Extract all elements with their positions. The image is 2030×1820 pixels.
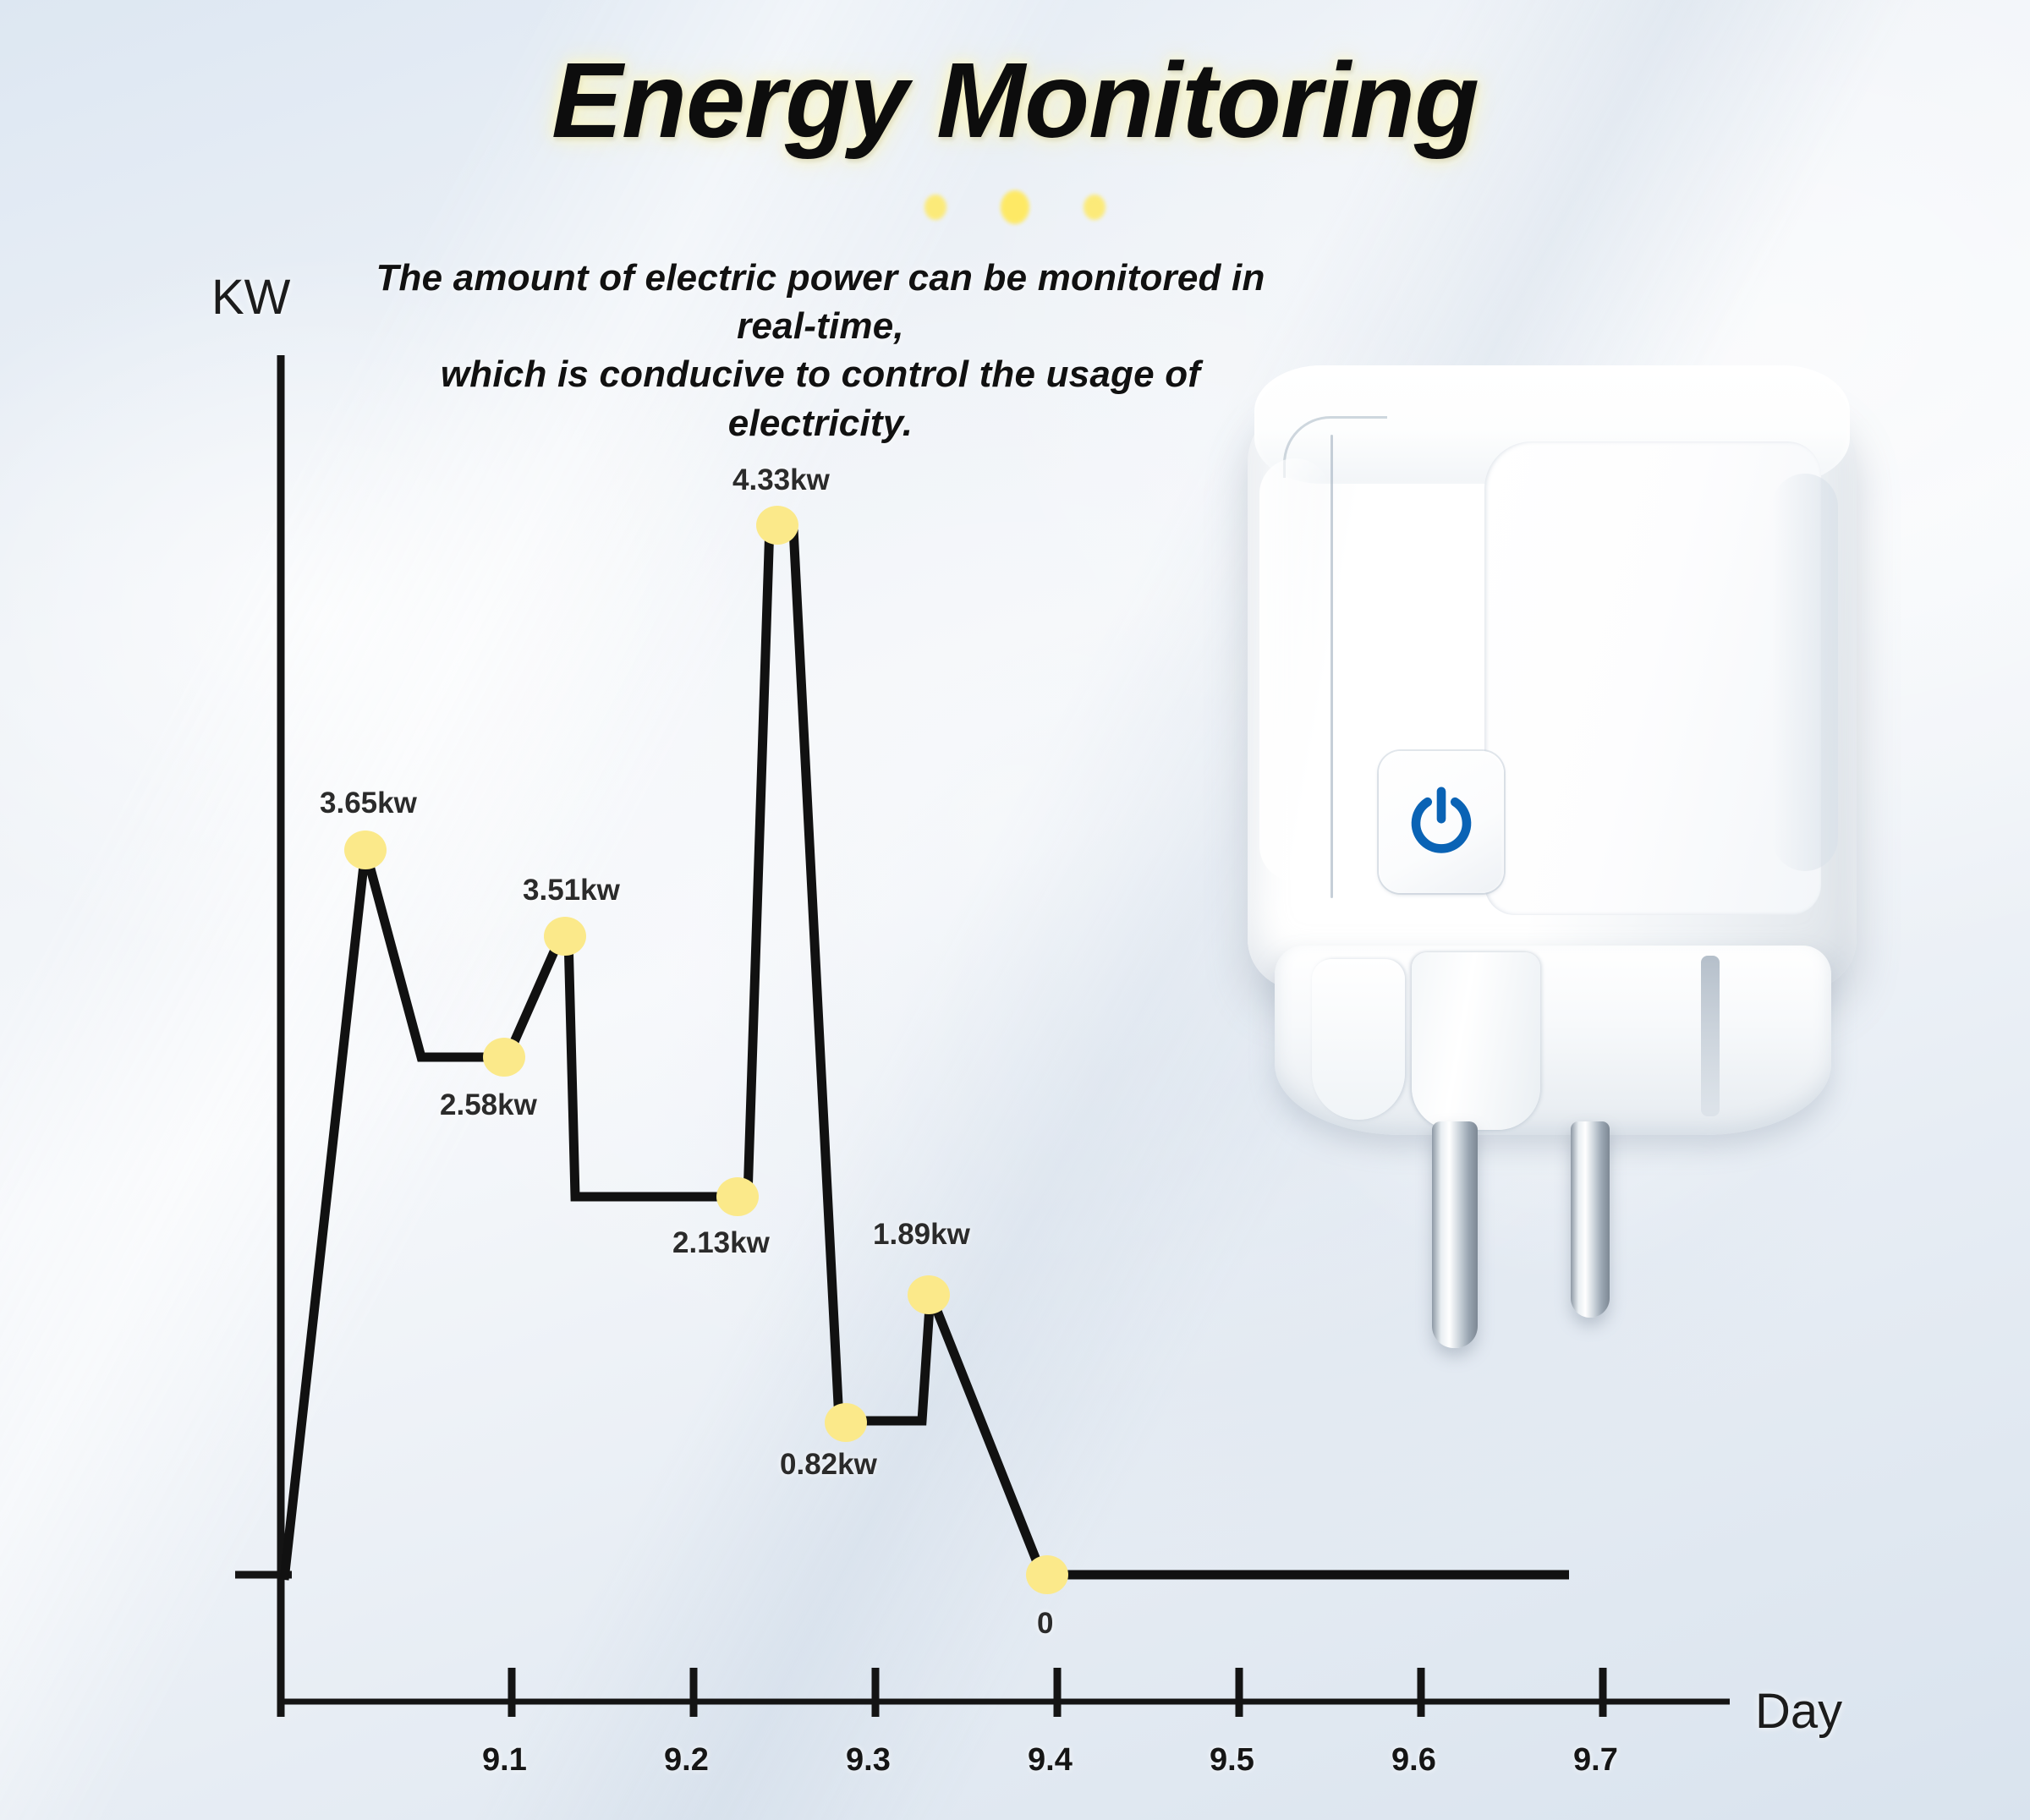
point-label-0: 0 — [1037, 1607, 1053, 1641]
point-label-2-58: 2.58kw — [440, 1088, 537, 1122]
x-axis-ticks — [512, 1668, 1603, 1717]
smart-plug-image — [1231, 397, 1874, 1421]
marker-0 — [1026, 1555, 1068, 1594]
plug-pin-left — [1432, 1121, 1478, 1348]
plug-highlight-right — [1772, 474, 1838, 871]
point-label-4-33: 4.33kw — [732, 463, 830, 497]
x-tick-9-4: 9.4 — [1028, 1742, 1073, 1779]
plug-seam — [1330, 435, 1333, 898]
y-axis-label: KW — [211, 269, 290, 326]
point-label-2-13: 2.13kw — [672, 1226, 770, 1260]
point-label-3-51: 3.51kw — [523, 874, 620, 907]
marker-1.89 — [908, 1275, 950, 1314]
marker-4.33 — [756, 506, 798, 545]
power-button[interactable] — [1379, 751, 1504, 893]
x-tick-9-5: 9.5 — [1210, 1742, 1254, 1779]
x-tick-9-6: 9.6 — [1391, 1742, 1436, 1779]
plug-base-middle — [1412, 952, 1540, 1130]
marker-3.65 — [344, 831, 387, 869]
point-label-0-82: 0.82kw — [780, 1448, 877, 1482]
plug-highlight-left — [1259, 458, 1330, 881]
plug-base-notch-left — [1312, 959, 1405, 1120]
x-tick-9-2: 9.2 — [664, 1742, 709, 1779]
marker-2.13 — [716, 1177, 759, 1216]
plug-base-notch-right — [1701, 956, 1720, 1116]
x-axis-label: Day — [1755, 1683, 1842, 1740]
power-icon — [1407, 785, 1475, 859]
plug-face-panel — [1484, 441, 1821, 915]
point-label-1-89: 1.89kw — [873, 1218, 970, 1252]
x-tick-9-3: 9.3 — [846, 1742, 891, 1779]
data-markers — [344, 506, 1068, 1594]
marker-2.58 — [483, 1038, 525, 1077]
marker-3.51 — [544, 917, 586, 956]
point-label-3-65: 3.65kw — [320, 787, 417, 820]
plug-pin-right — [1571, 1121, 1610, 1318]
x-tick-9-7: 9.7 — [1573, 1742, 1618, 1779]
x-tick-9-1: 9.1 — [482, 1742, 527, 1779]
marker-0.82 — [825, 1403, 867, 1442]
